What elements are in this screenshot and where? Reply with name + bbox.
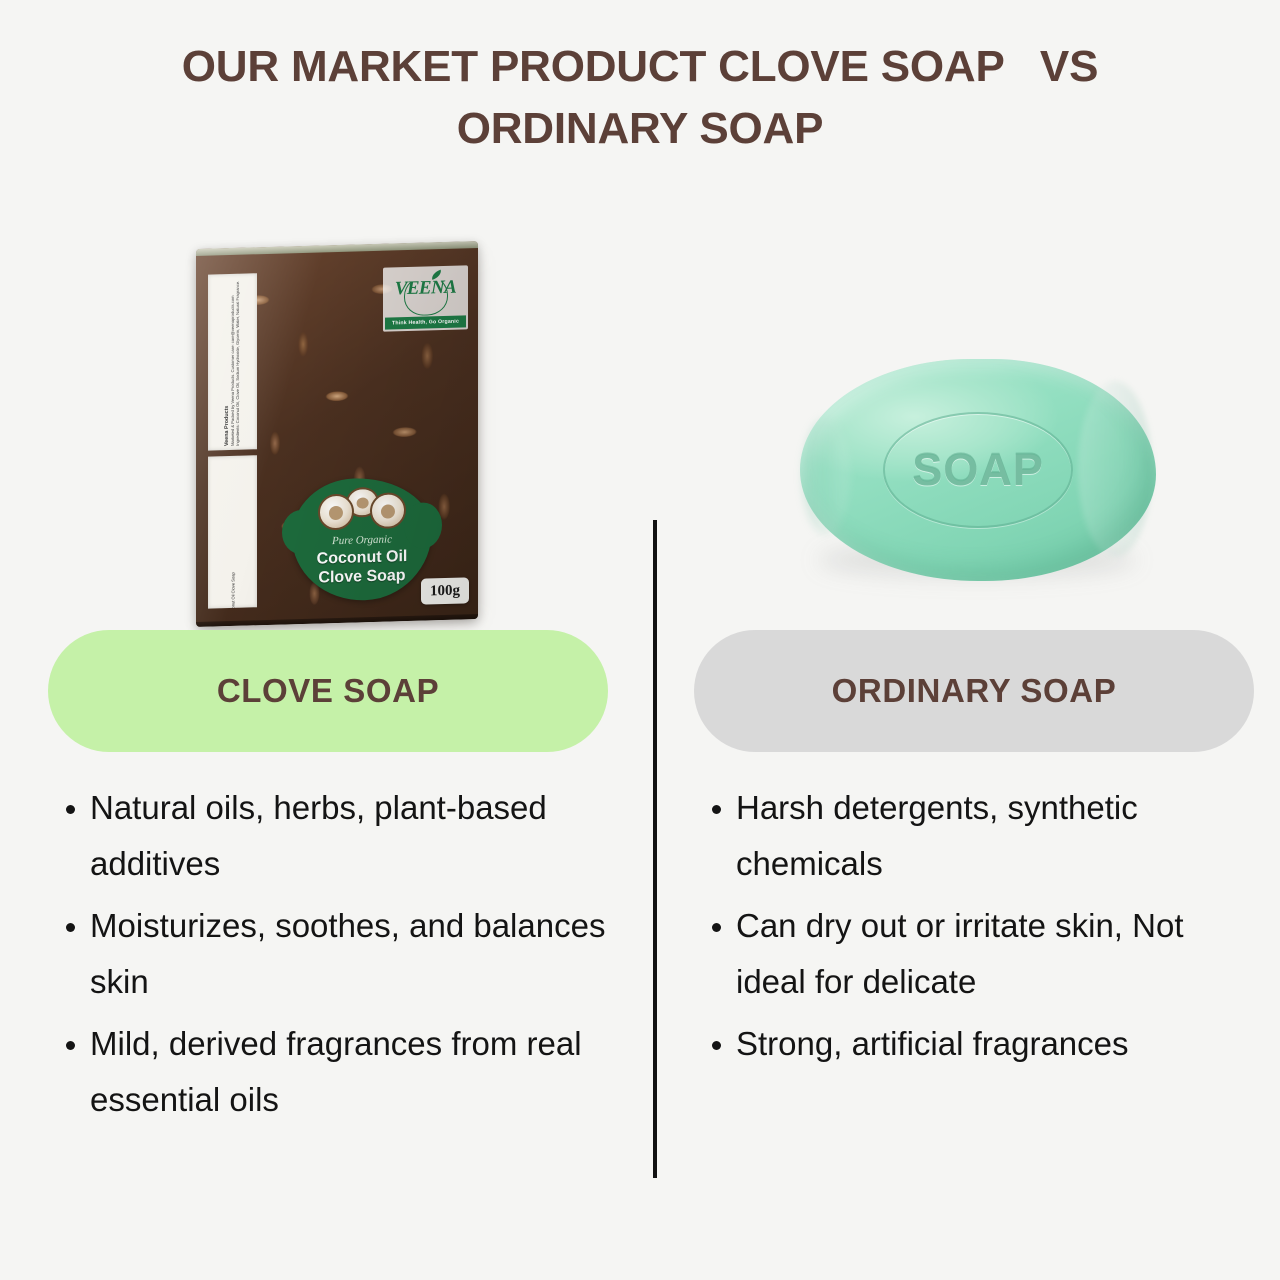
list-item: Harsh detergents, synthetic chemicals [694,780,1254,892]
page-title-line-2: ORDINARY SOAP [0,98,1280,160]
clove-soap-heading-pill: CLOVE SOAP [48,630,608,752]
carton-top-edge [196,241,478,256]
soap-bar-highlight-right [1078,381,1152,557]
coconut-icon-left [318,494,354,531]
ordinary-soap-bar-image: SOAP [792,343,1164,595]
veena-tagline: Think Health, Go Organic [385,315,466,329]
list-item: Can dry out or irritate skin, Not ideal … [694,898,1254,1010]
carton-side-panel-bottom-text: Coconut Oil Clove Soap [230,455,235,608]
vertical-divider [653,520,657,1178]
label-product-name: Coconut Oil Clove Soap [292,546,432,588]
carton-side-panel-ingredients: Ingredients: Coconut Oil, Clove Oil, Sod… [235,278,240,446]
carton-face-clove-photo: Veena Products Marketed & Packed by Veen… [196,241,478,627]
veena-wordmark: VEENA [383,276,468,300]
veena-brand-logo: VEENA Think Health, Go Organic [383,265,468,331]
coconut-pit [356,497,369,509]
ordinary-soap-heading-pill: ORDINARY SOAP [694,630,1254,752]
clove-soap-benefit-list: Natural oils, herbs, plant-based additiv… [48,780,608,1128]
coconut-illustration [308,484,416,533]
list-item: Natural oils, herbs, plant-based additiv… [48,780,608,892]
carton-green-label: Pure Organic Coconut Oil Clove Soap [292,476,432,602]
carton-side-panel-brand: Veena Products [225,278,230,446]
clove-soap-heading-label: CLOVE SOAP [217,672,439,710]
carton-side-panel-top: Veena Products Marketed & Packed by Veen… [208,273,257,450]
list-item: Strong, artificial fragrances [694,1016,1254,1072]
label-eyebrow: Pure Organic [292,532,432,548]
comparison-column-clove: CLOVE SOAP Natural oils, herbs, plant-ba… [48,630,608,1134]
ordinary-soap-drawback-list: Harsh detergents, synthetic chemicals Ca… [694,780,1254,1072]
clove-soap-carton-image: Veena Products Marketed & Packed by Veen… [196,241,478,627]
carton-side-panel-top-copy: Marketed & Packed by Veena Products. Cus… [230,278,235,446]
label-product-name-line-2: Clove Soap [292,565,432,588]
carton-side-panel-top-text: Veena Products Marketed & Packed by Veen… [225,278,241,446]
soap-bar-highlight-left [802,417,850,535]
coconut-pit [381,504,395,518]
page-title: OUR MARKET PRODUCT CLOVE SOAP VS ORDINAR… [0,36,1280,160]
page-title-line-1: OUR MARKET PRODUCT CLOVE SOAP VS [0,36,1280,98]
carton-side-panel-bottom: Coconut Oil Clove Soap [208,455,257,608]
list-item: Moisturizes, soothes, and balances skin [48,898,608,1010]
coconut-icon-right [370,492,406,529]
product-image-row: Veena Products Marketed & Packed by Veen… [0,215,1280,630]
comparison-column-ordinary: ORDINARY SOAP Harsh detergents, syntheti… [694,630,1254,1078]
ordinary-soap-heading-label: ORDINARY SOAP [832,672,1117,710]
net-weight-badge: 100g [421,577,469,604]
soap-bar-body: SOAP [800,359,1156,581]
soap-emboss-text: SOAP [912,444,1044,496]
list-item: Mild, derived fragrances from real essen… [48,1016,608,1128]
coconut-pit [329,505,343,519]
